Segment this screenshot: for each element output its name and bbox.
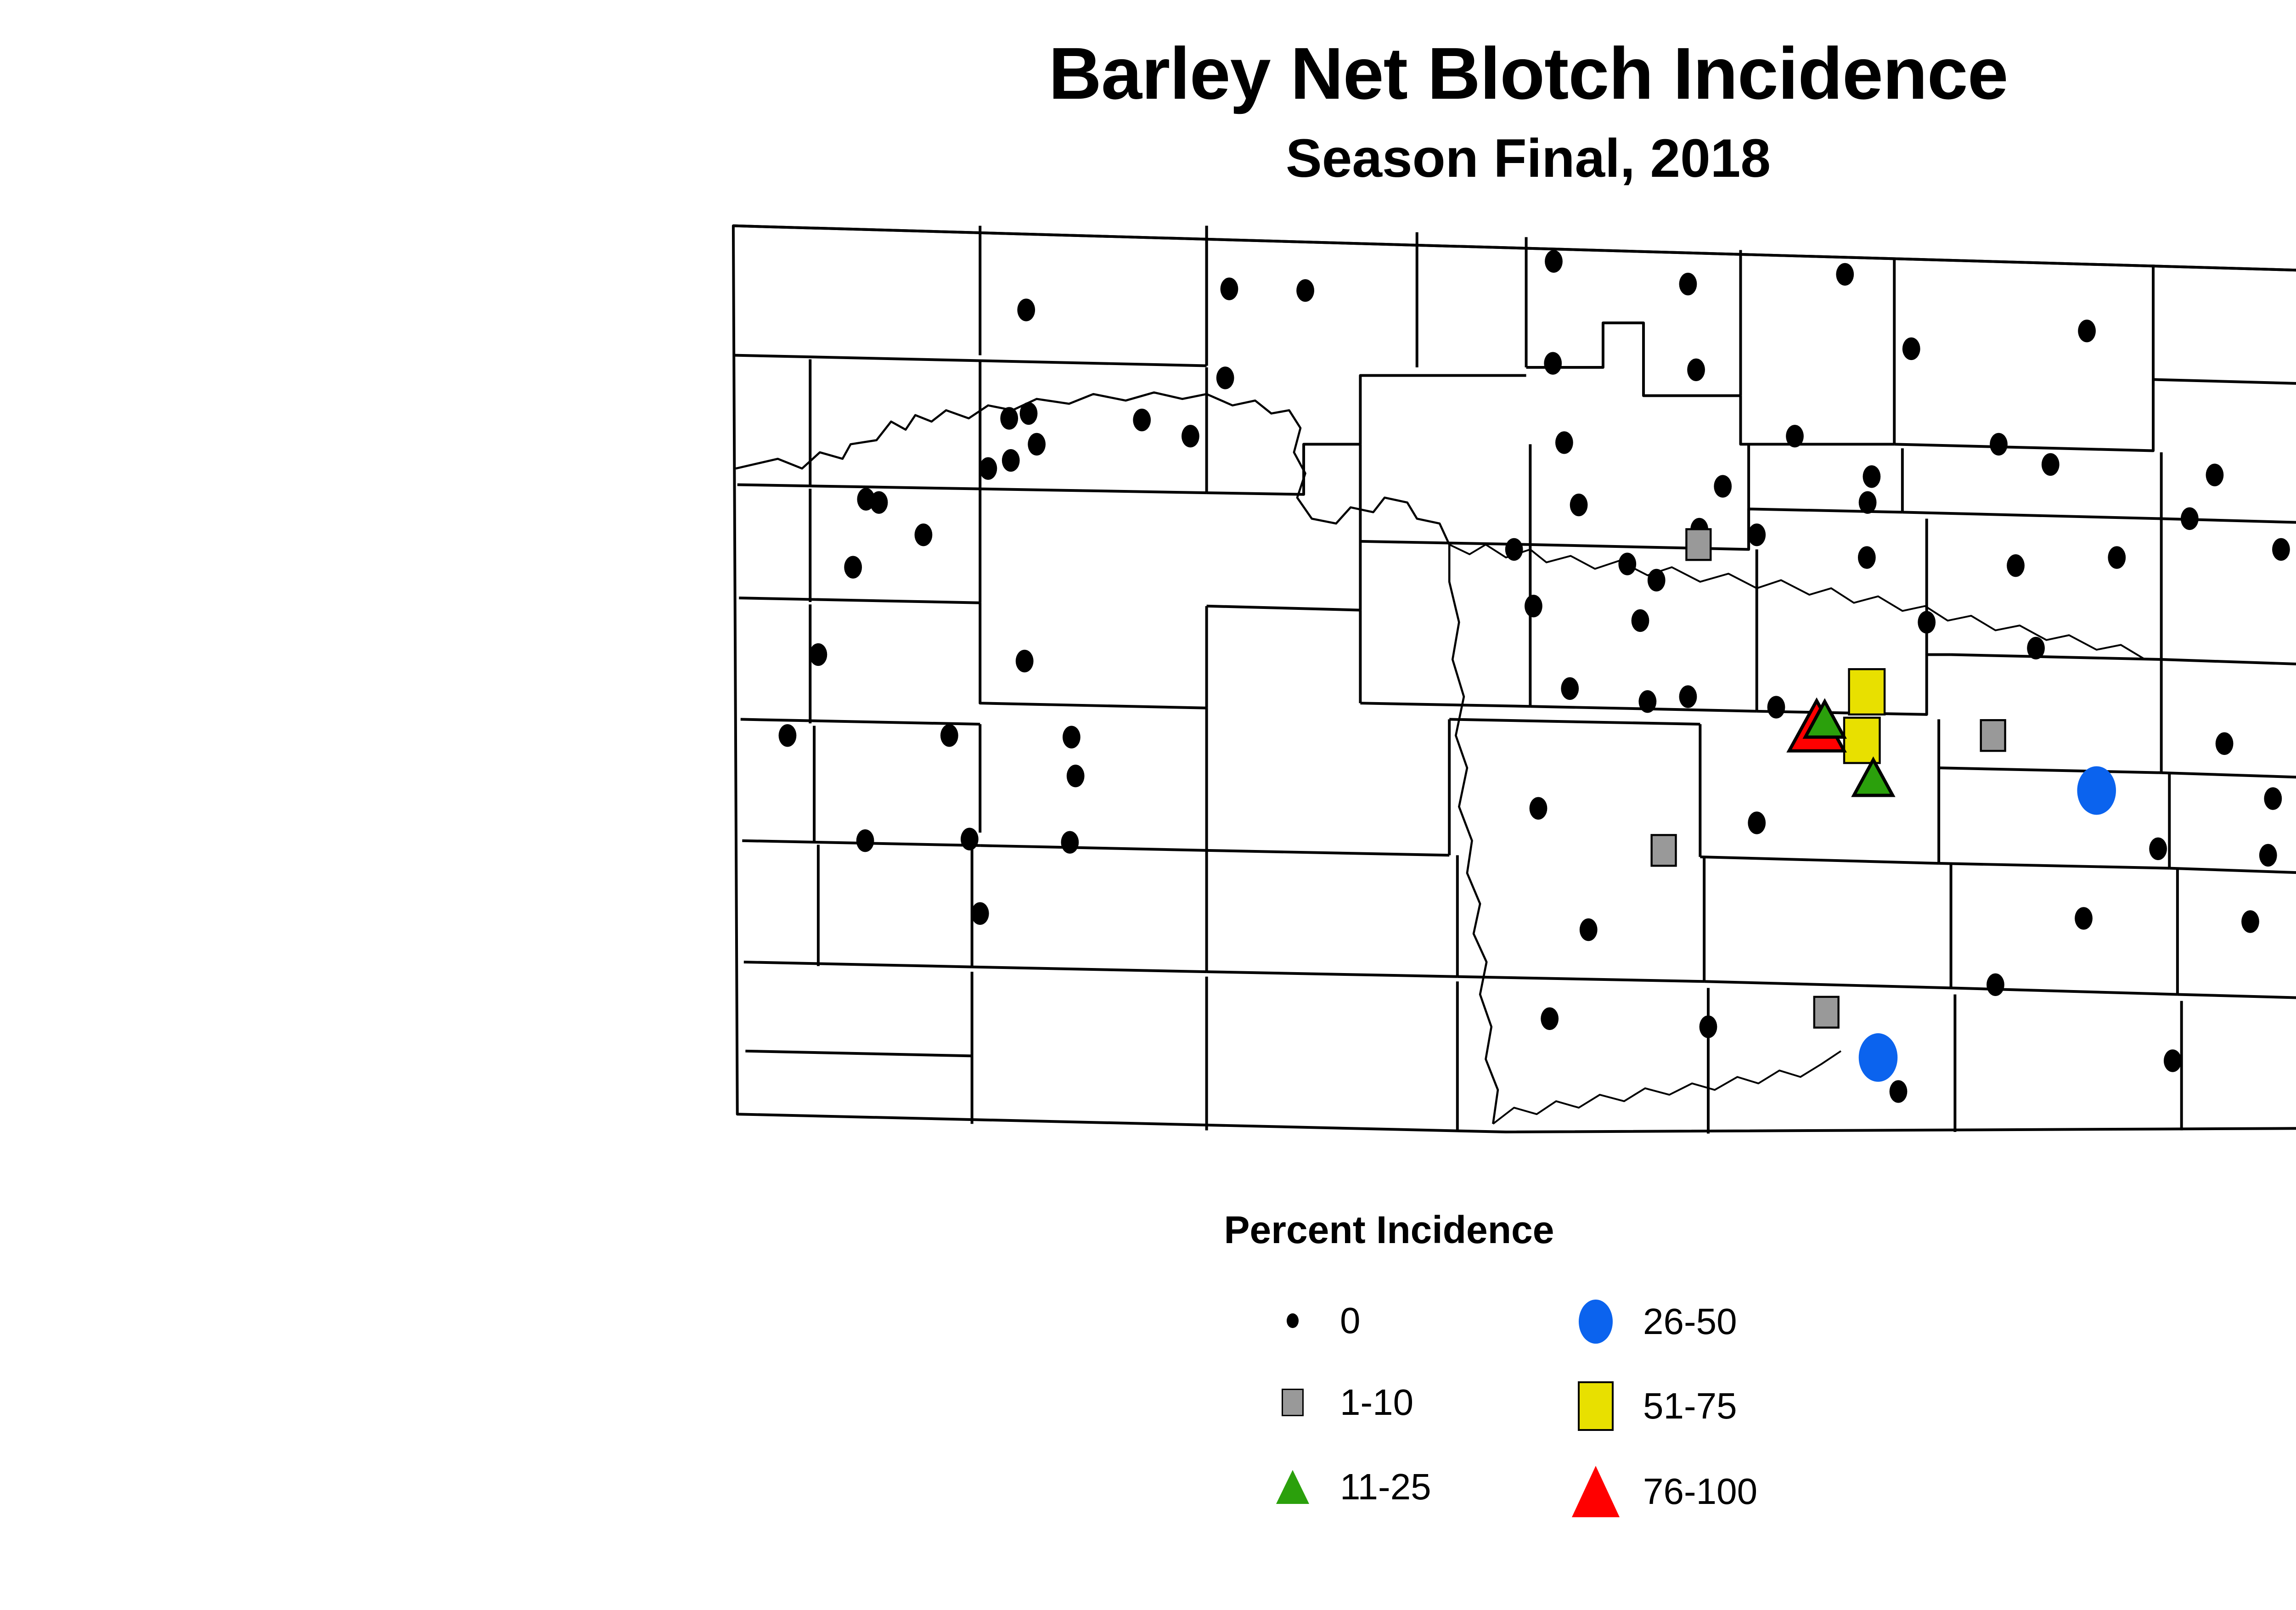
legend-item-11-25[interactable]: 11-25 (1258, 1466, 1431, 1508)
map-marker-0[interactable] (2149, 838, 2167, 860)
map-marker-1-10[interactable] (1686, 529, 1711, 560)
map-marker-0[interactable] (1687, 359, 1705, 381)
map-marker-0[interactable] (1530, 797, 1548, 820)
blue-circle-icon (1561, 1300, 1630, 1344)
map-marker-0[interactable] (2164, 1049, 2182, 1072)
legend-label: 1-10 (1327, 1381, 1413, 1424)
map-marker-1-10[interactable] (1814, 997, 1839, 1028)
page-title: Barley Net Blotch Incidence (0, 37, 2296, 110)
map-marker-0[interactable] (1648, 569, 1666, 591)
map-marker-0[interactable] (2042, 453, 2060, 476)
map-marker-0[interactable] (1990, 433, 2008, 456)
map-marker-0[interactable] (1570, 494, 1588, 516)
map-marker-0[interactable] (1748, 524, 1766, 546)
small-black-dot-icon (1258, 1313, 1327, 1328)
map-marker-0[interactable] (2241, 910, 2259, 933)
map-marker-0[interactable] (1902, 338, 1920, 360)
map-marker-0[interactable] (1020, 402, 1038, 425)
legend-item-1-10[interactable]: 1-10 (1258, 1381, 1413, 1424)
map-marker-0[interactable] (2007, 554, 2025, 577)
legend-label: 51-75 (1630, 1385, 1737, 1427)
map-marker-0[interactable] (1618, 552, 1636, 575)
map-marker-0[interactable] (1133, 409, 1151, 431)
map-marker-1-10[interactable] (1981, 720, 2005, 751)
map-marker-0[interactable] (1890, 1080, 1908, 1103)
map-marker-0[interactable] (1748, 811, 1766, 834)
page-subtitle: Season Final, 2018 (0, 110, 2296, 186)
map-marker-0[interactable] (2027, 637, 2045, 659)
map-marker-51-75[interactable] (1849, 669, 1885, 715)
map-marker-26-50[interactable] (2077, 766, 2116, 815)
map-marker-0[interactable] (940, 724, 958, 747)
map-marker-0[interactable] (2206, 464, 2224, 486)
legend-item-0[interactable]: 0 (1258, 1300, 1361, 1342)
map-marker-0[interactable] (1296, 279, 1314, 302)
legend-label: 76-100 (1630, 1470, 1757, 1513)
north-dakota-map[interactable] (689, 197, 2296, 1217)
map-marker-0[interactable] (1561, 677, 1579, 700)
yellow-square-icon (1561, 1381, 1630, 1431)
title-block: Barley Net Blotch Incidence Season Final… (0, 37, 2296, 186)
gray-square-icon (1258, 1389, 1327, 1416)
map-marker-0[interactable] (1016, 650, 1034, 672)
map-marker-0[interactable] (1545, 250, 1563, 273)
map-marker-0[interactable] (1063, 726, 1080, 749)
map-marker-0[interactable] (1767, 696, 1785, 718)
map-marker-0[interactable] (1067, 765, 1085, 787)
red-triangle-icon (1561, 1466, 1630, 1517)
map-marker-0[interactable] (1863, 465, 1881, 488)
map-marker-0[interactable] (1679, 273, 1697, 295)
map-marker-0[interactable] (2108, 546, 2126, 569)
map-marker-0[interactable] (779, 724, 797, 747)
map-marker-51-75[interactable] (1844, 718, 1880, 763)
map-marker-0[interactable] (2216, 732, 2234, 755)
map-marker-0[interactable] (844, 556, 862, 579)
map-marker-0[interactable] (1216, 366, 1234, 389)
legend-item-76-100[interactable]: 76-100 (1561, 1466, 1757, 1517)
map-marker-0[interactable] (2075, 907, 2093, 929)
map-marker-0[interactable] (1221, 277, 1238, 300)
map-marker-0[interactable] (1918, 611, 1936, 633)
map-marker-0[interactable] (979, 457, 997, 480)
map-marker-1-10[interactable] (1652, 835, 1676, 866)
map-marker-0[interactable] (2078, 320, 2096, 342)
map-marker-0[interactable] (1028, 433, 1046, 456)
map-marker-0[interactable] (2259, 844, 2277, 867)
green-triangle-icon (1258, 1470, 1327, 1504)
map-marker-0[interactable] (1505, 538, 1523, 561)
legend-label: 26-50 (1630, 1300, 1737, 1343)
map-marker-0[interactable] (1986, 974, 2004, 996)
map-marker-0[interactable] (1555, 431, 1573, 454)
map-marker-0[interactable] (1017, 298, 1035, 321)
map-marker-0[interactable] (1638, 690, 1656, 713)
map-marker-0[interactable] (1714, 475, 1732, 497)
map-marker-0[interactable] (915, 524, 933, 546)
map-marker-0[interactable] (1182, 425, 1199, 447)
map-marker-0[interactable] (1541, 1008, 1559, 1030)
map-marker-0[interactable] (971, 902, 989, 925)
map-marker-0[interactable] (1786, 425, 1804, 447)
map-marker-0[interactable] (2181, 507, 2199, 530)
map-marker-0[interactable] (961, 828, 979, 850)
map-marker-0[interactable] (1002, 449, 1020, 472)
map-marker-0[interactable] (1836, 263, 1854, 286)
map-marker-0[interactable] (1699, 1015, 1717, 1038)
legend-label: 11-25 (1327, 1466, 1431, 1508)
map-marker-0[interactable] (1859, 491, 1877, 514)
map-marker-0[interactable] (1679, 685, 1697, 708)
map-svg[interactable] (689, 197, 2296, 1217)
legend-title: Percent Incidence (1194, 1208, 1584, 1252)
legend-label: 0 (1327, 1300, 1361, 1342)
map-marker-0[interactable] (856, 829, 874, 852)
map-marker-26-50[interactable] (1859, 1033, 1898, 1082)
county-boundaries (733, 226, 2296, 1134)
map-marker-0[interactable] (1544, 352, 1562, 375)
map-marker-0[interactable] (1000, 407, 1018, 429)
map-legend: Percent Incidence 0 1-10 11-25 26-50 51-… (1194, 1208, 1952, 1584)
map-marker-0[interactable] (1858, 546, 1876, 569)
map-marker-0[interactable] (2264, 787, 2282, 810)
map-marker-0[interactable] (1580, 918, 1598, 941)
map-page: Barley Net Blotch Incidence Season Final… (0, 0, 2296, 1610)
map-marker-0[interactable] (870, 491, 888, 514)
map-marker-0[interactable] (810, 643, 827, 666)
legend-item-51-75[interactable]: 51-75 (1561, 1381, 1737, 1431)
map-marker-0[interactable] (2272, 538, 2290, 561)
map-marker-0[interactable] (1632, 609, 1649, 632)
map-marker-0[interactable] (1525, 595, 1542, 617)
legend-item-26-50[interactable]: 26-50 (1561, 1300, 1737, 1344)
map-marker-0[interactable] (1061, 831, 1079, 854)
